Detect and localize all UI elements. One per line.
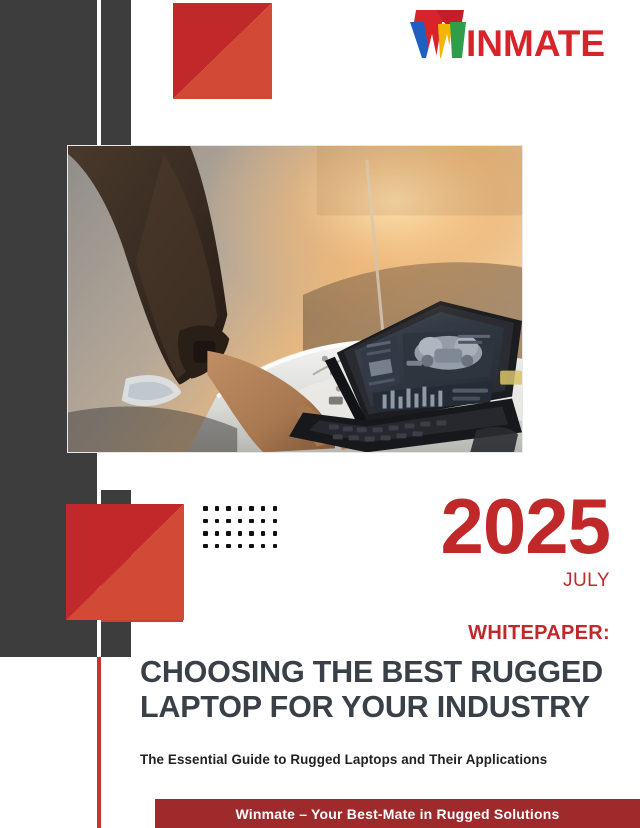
footer-tagline-bar: Winmate – Your Best-Mate in Rugged Solut… — [155, 799, 640, 828]
grid-dot — [215, 531, 220, 536]
dot-grid-decoration — [203, 506, 284, 556]
grid-dot — [203, 531, 208, 536]
grid-dot — [238, 531, 243, 536]
cover-year: 2025 — [440, 487, 610, 565]
grid-dot — [249, 544, 254, 549]
grid-dot — [203, 519, 208, 524]
page-title-line-2: LAPTOP FOR YOUR INDUSTRY — [140, 690, 620, 725]
whitepaper-kicker: WHITEPAPER: — [468, 622, 610, 645]
grid-dot — [261, 506, 266, 511]
grid-dot — [215, 506, 220, 511]
footer-tagline-text: Winmate – Your Best-Mate in Rugged Solut… — [236, 806, 560, 822]
red-diagonal-square-top — [173, 3, 272, 99]
svg-text:INMATE: INMATE — [466, 23, 604, 64]
grid-dot — [249, 506, 254, 511]
winmate-logo: INMATE — [408, 8, 604, 70]
grid-dot — [249, 531, 254, 536]
grid-dot — [238, 506, 243, 511]
grid-dot — [226, 506, 231, 511]
grid-dot — [215, 544, 220, 549]
grid-dot — [203, 506, 208, 511]
red-diagonal-square-bottom — [66, 504, 184, 620]
grid-dot — [273, 506, 278, 511]
grid-dot — [203, 544, 208, 549]
whitepaper-cover: INMATE — [0, 0, 640, 828]
cover-month: JULY — [563, 570, 610, 592]
grid-dot — [261, 531, 266, 536]
grid-dot — [273, 544, 278, 549]
hero-photo — [67, 145, 523, 453]
grid-dot — [226, 519, 231, 524]
page-subtitle: The Essential Guide to Rugged Laptops an… — [140, 752, 620, 767]
grid-dot — [261, 544, 266, 549]
grid-dot — [273, 519, 278, 524]
grid-dot — [226, 531, 231, 536]
grid-dot — [261, 519, 266, 524]
grid-dot — [226, 544, 231, 549]
upper-dark-accent-bar — [101, 0, 131, 145]
grid-dot — [249, 519, 254, 524]
page-title-line-1: CHOOSING THE BEST RUGGED — [140, 655, 603, 689]
grid-dot — [215, 519, 220, 524]
page-title: CHOOSING THE BEST RUGGED LAPTOP FOR YOUR… — [140, 655, 620, 725]
grid-dot — [273, 531, 278, 536]
grid-dot — [238, 544, 243, 549]
grid-dot — [238, 519, 243, 524]
red-vertical-rule — [97, 657, 101, 828]
